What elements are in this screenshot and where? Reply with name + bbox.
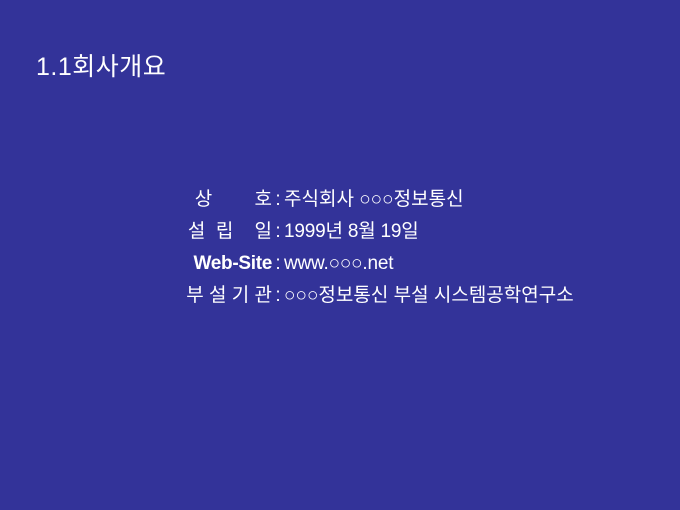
list-item: 부 설 기 관 : ○○○정보통신 부설 시스템공학연구소 xyxy=(0,280,680,312)
info-label-affiliated-institute: 부 설 기 관 xyxy=(0,280,272,312)
info-separator: : xyxy=(272,216,284,248)
info-value-founded-date: 1999년 8월 19일 xyxy=(284,216,419,248)
info-label-web-site: Web-Site xyxy=(0,248,272,280)
info-label-company-name: 상 호 xyxy=(0,184,272,216)
info-separator: : xyxy=(272,248,284,280)
info-separator: : xyxy=(272,280,284,312)
info-separator: : xyxy=(272,184,284,216)
list-item: Web-Site : www.○○○.net xyxy=(0,248,680,280)
list-item: 설 립 일 : 1999년 8월 19일 xyxy=(0,216,680,248)
company-info-list: 상 호 : 주식회사 ○○○정보통신 설 립 일 : 1999년 8월 19일 … xyxy=(0,184,680,312)
info-value-company-name: 주식회사 ○○○정보통신 xyxy=(284,184,464,216)
page-title: 1.1회사개요 xyxy=(36,52,166,82)
list-item: 상 호 : 주식회사 ○○○정보통신 xyxy=(0,184,680,216)
info-value-web-site: www.○○○.net xyxy=(284,248,393,280)
slide-canvas: 1.1회사개요 상 호 : 주식회사 ○○○정보통신 설 립 일 : 1999년… xyxy=(0,0,680,510)
info-value-affiliated-institute: ○○○정보통신 부설 시스템공학연구소 xyxy=(284,280,574,312)
info-label-founded-date: 설 립 일 xyxy=(0,216,272,248)
